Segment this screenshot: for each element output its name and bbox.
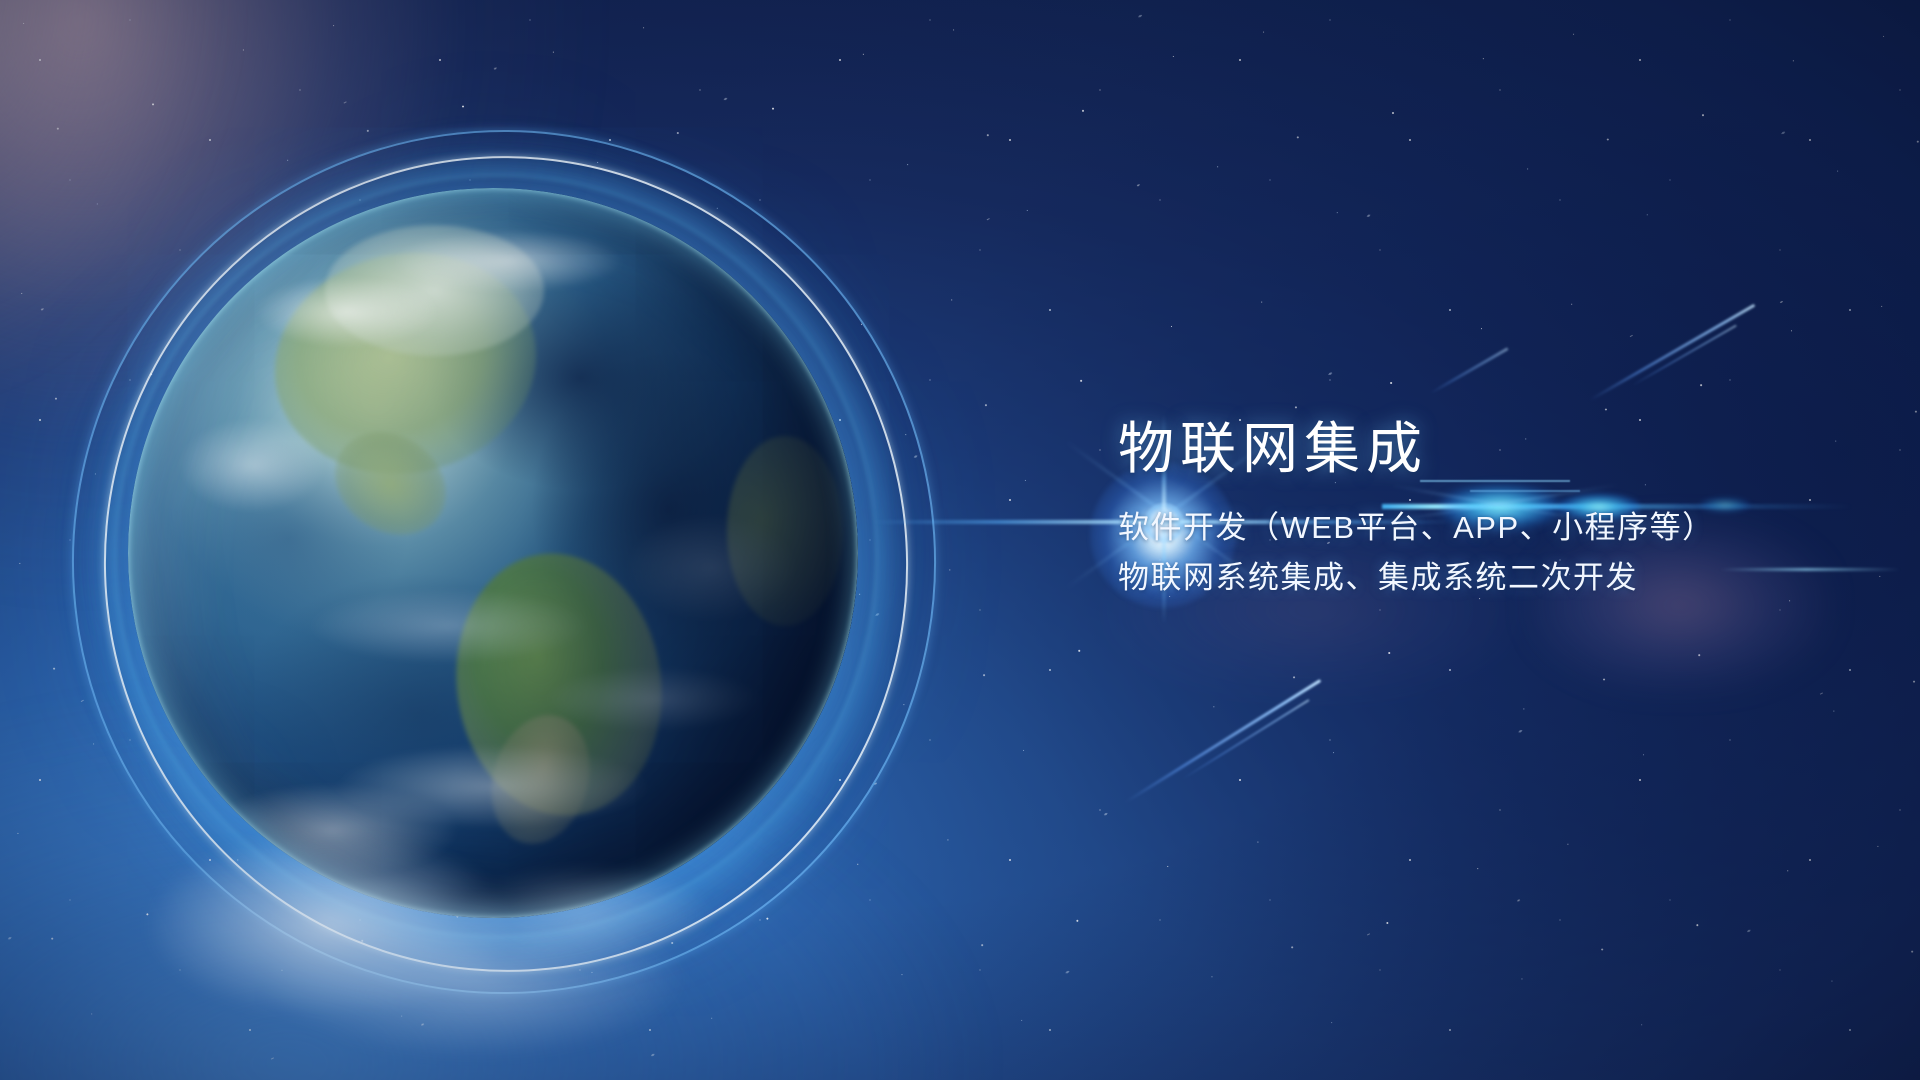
- banner-title: 物联网集成: [1118, 418, 1818, 481]
- banner-subtitle-2: 物联网系统集成、集成系统二次开发: [1118, 553, 1818, 603]
- banner-text-block: 物联网集成 软件开发（WEB平台、APP、小程序等） 物联网系统集成、集成系统二…: [1118, 418, 1818, 603]
- banner-subtitle-1: 软件开发（WEB平台、APP、小程序等）: [1118, 503, 1818, 553]
- hero-banner: 物联网集成 软件开发（WEB平台、APP、小程序等） 物联网系统集成、集成系统二…: [0, 0, 1920, 1080]
